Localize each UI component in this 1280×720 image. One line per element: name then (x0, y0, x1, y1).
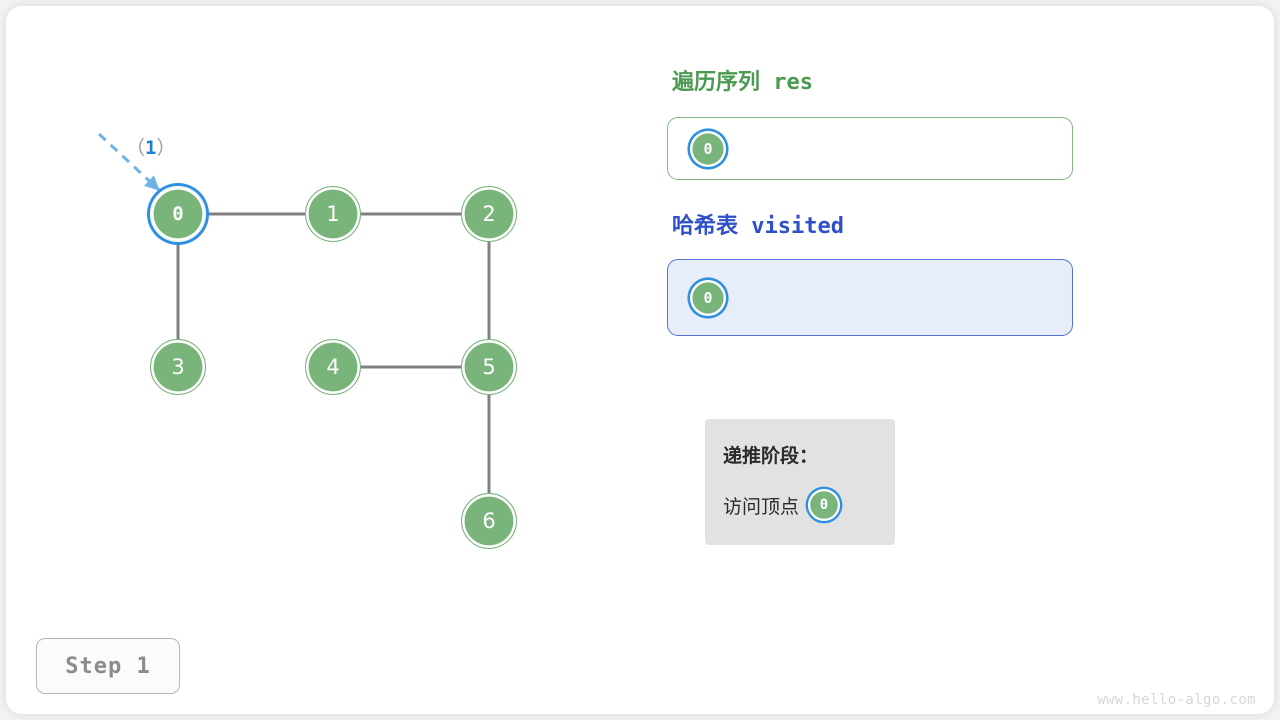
graph-visualization: （1） 0 1 2 3 4 5 6 (0, 0, 640, 620)
graph-node-label: 3 (171, 357, 184, 378)
graph-node-label: 5 (482, 357, 495, 378)
status-node-label: 0 (820, 498, 828, 512)
res-title: 遍历序列 res (672, 64, 813, 96)
status-node: 0 (808, 489, 840, 521)
step-badge: Step 1 (36, 638, 180, 694)
graph-node-label: 4 (326, 357, 339, 378)
watermark: www.hello-algo.com (1097, 692, 1256, 708)
content-root: （1） 0 1 2 3 4 5 6 (0, 0, 1280, 720)
visited-container: 0 (667, 259, 1073, 336)
screenshot-stage: （1） 0 1 2 3 4 5 6 (0, 0, 1280, 720)
graph-node-0[interactable]: 0 (150, 186, 206, 242)
graph-node-1[interactable]: 1 (305, 186, 361, 242)
status-line: 访问顶点 0 (723, 489, 840, 521)
graph-node-2[interactable]: 2 (461, 186, 517, 242)
graph-node-label: 6 (482, 511, 495, 532)
pointer-close-paren: ） (156, 137, 175, 159)
graph-node-label: 2 (482, 204, 495, 225)
status-text: 访问顶点 (723, 492, 799, 519)
graph-node-label: 1 (326, 204, 339, 225)
info-panel: 遍历序列 res 0 哈希表 visited 0 递推阶段： 访问顶点 0 (667, 0, 1280, 720)
status-heading: 递推阶段： (723, 441, 818, 468)
visited-item-label: 0 (703, 291, 712, 306)
graph-node-6[interactable]: 6 (461, 493, 517, 549)
graph-node-3[interactable]: 3 (150, 339, 206, 395)
res-item: 0 (690, 131, 726, 167)
res-item-label: 0 (703, 142, 712, 157)
graph-node-5[interactable]: 5 (461, 339, 517, 395)
pointer-step-label: （1） (126, 133, 175, 160)
graph-node-4[interactable]: 4 (305, 339, 361, 395)
pointer-open-paren: （ (126, 137, 145, 159)
res-container: 0 (667, 117, 1073, 180)
graph-node-label: 0 (172, 205, 183, 224)
visited-item: 0 (690, 280, 726, 316)
visited-title: 哈希表 visited (672, 208, 844, 240)
status-box: 递推阶段： 访问顶点 0 (705, 419, 895, 545)
step-badge-label: Step 1 (65, 654, 150, 679)
graph-edges-layer (0, 0, 640, 620)
pointer-index: 1 (145, 137, 156, 159)
